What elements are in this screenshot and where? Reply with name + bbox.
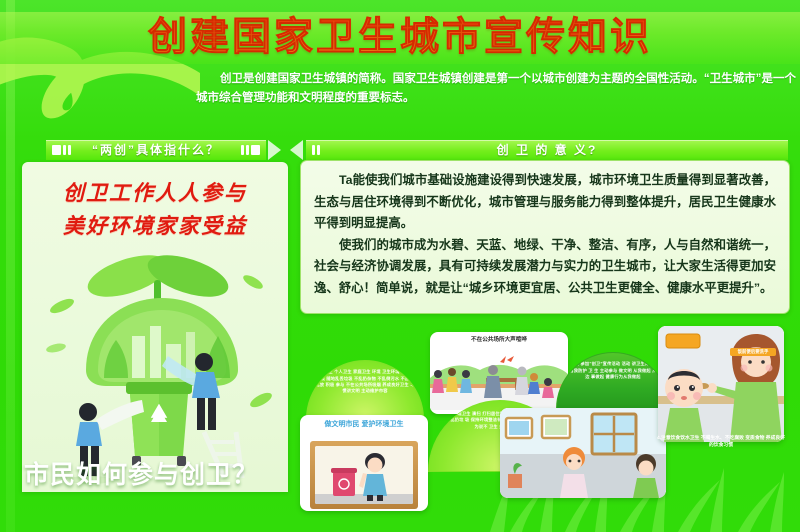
- card-2-illustration-caption: 不在公共场所大声喧哗: [430, 337, 568, 343]
- intro-paragraph: 创卫是创建国家卫生城镇的简称。国家卫生城镇创建是第一个以城市创建为主题的全国性活…: [196, 70, 796, 108]
- card-1-frame: [310, 441, 418, 509]
- section-header-right: 创 卫 的 意 义?: [306, 140, 788, 160]
- card-3: [500, 408, 666, 498]
- classroom-children: [500, 408, 666, 498]
- section-header-right-label: 创 卫 的 意 义?: [306, 140, 788, 160]
- section-header-left-label: “两创”具体指什么？: [46, 140, 266, 160]
- card-1-dome: 1.讲卫生 个人卫生 家庭卫生 环境 卫生环境 不随地 吐痰 随地乱丢垃圾 不乱…: [306, 360, 424, 420]
- card-4-caption: 4.注意饮食饮水卫生 不喝生水、不吃腐败 变质食物 养成良好的饮食习惯: [655, 436, 787, 449]
- mother-feeding-child: [658, 326, 784, 442]
- calligraphy-line-2: 美好环境家家受益: [22, 209, 288, 242]
- header: 创建国家卫生城市宣传知识: [0, 8, 800, 68]
- poster-root: 创建国家卫生城市宣传知识 创卫是创建国家卫生城镇的简称。国家卫生城镇创建是第一个…: [0, 0, 800, 532]
- arrow-right-icon: [268, 140, 281, 160]
- card-4: 饭前便后要洗手: [658, 326, 784, 442]
- card-1-frame-inner: [315, 446, 413, 504]
- card-4-orange-tag: 饭前便后要洗手: [730, 348, 776, 356]
- page-title: 创建国家卫生城市宣传知识: [0, 12, 800, 64]
- bottom-question-heading: 市民如何参与创卫？: [24, 455, 294, 491]
- left-content-panel: 创卫工作人人参与 美好环境家家受益: [22, 162, 288, 492]
- card-3-dome-text: 3.积极 参加“创卫”宣传活动 活动 讲卫生知识 提高自我防护 卫 生 主动参与…: [565, 361, 661, 380]
- recycling-bin-illustration: [28, 240, 282, 488]
- arrow-left-icon: [290, 140, 303, 160]
- card-3-dome: 3.积极 参加“创卫”宣传活动 活动 讲卫生知识 提高自我防护 卫 生 主动参与…: [556, 352, 670, 414]
- calligraphy-line-1: 创卫工作人人参与: [22, 176, 288, 209]
- right-paragraph-1: Ta能使我们城市基础设施建设得到快速发展，城市环境卫生质量得到显著改善，生态与居…: [301, 161, 789, 235]
- woman-with-trash-bin: [315, 446, 413, 504]
- calligraphy-block: 创卫工作人人参与 美好环境家家受益: [22, 176, 288, 242]
- card-1: 做文明市民 爱护环境卫生: [300, 415, 428, 511]
- section-header-left: “两创”具体指什么？: [46, 140, 266, 160]
- card-1-dome-text: 1.讲卫生 个人卫生 家庭卫生 环境 卫生环境 不随地 吐痰 随地乱丢垃圾 不乱…: [315, 369, 415, 395]
- right-paragraph-2: 使我们的城市成为水碧、天蓝、地绿、干净、整洁、有序，人与自然和谐统一，社会与经济…: [301, 235, 789, 300]
- right-content-box: Ta能使我们城市基础设施建设得到快速发展，城市环境卫生质量得到显著改善，生态与居…: [300, 160, 790, 314]
- left-edge-bar: [6, 0, 15, 532]
- card-1-title: 做文明市民 爱护环境卫生: [300, 420, 428, 429]
